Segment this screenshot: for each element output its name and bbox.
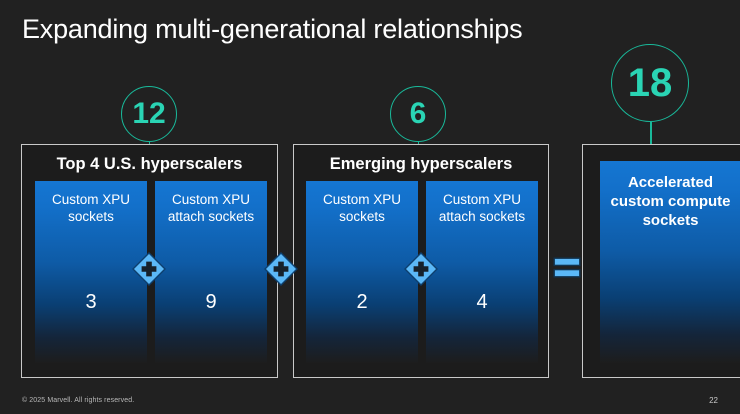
panel-top4-heading: Top 4 U.S. hyperscalers <box>22 155 277 174</box>
copyright-notice: © 2025 Marvell. All rights reserved. <box>22 397 134 404</box>
plus-icon <box>264 252 298 286</box>
bar-emerging-custom-xpu-attach-sockets: Custom XPU attach sockets 4 <box>426 181 538 363</box>
total-badge-top4-value: 12 <box>132 97 165 131</box>
bar-label: Custom XPU attach sockets <box>430 191 534 225</box>
total-badge-combined-value: 18 <box>628 61 673 106</box>
total-badge-top4: 12 <box>121 86 177 142</box>
bar-value: 9 <box>155 291 267 314</box>
bar-label: Accelerated custom compute sockets <box>606 173 735 230</box>
bar-value: 2 <box>306 291 418 314</box>
plus-icon <box>404 252 438 286</box>
page-title: Expanding multi-generational relationshi… <box>22 14 522 45</box>
bar-top4-custom-xpu-attach-sockets: Custom XPU attach sockets 9 <box>155 181 267 363</box>
total-badge-emerging: 6 <box>390 86 446 142</box>
total-badge-emerging-value: 6 <box>410 97 427 131</box>
slide-canvas: Expanding multi-generational relationshi… <box>0 0 740 414</box>
bar-top4-custom-xpu-sockets: Custom XPU sockets 3 <box>35 181 147 363</box>
equals-icon <box>553 256 581 280</box>
page-number: 22 <box>709 396 718 405</box>
bar-value: 3 <box>35 291 147 314</box>
bar-label: Custom XPU sockets <box>310 191 414 225</box>
bar-emerging-custom-xpu-sockets: Custom XPU sockets 2 <box>306 181 418 363</box>
total-badge-combined: 18 <box>611 44 689 122</box>
plus-icon <box>132 252 166 286</box>
bar-accelerated-custom-compute-sockets: Accelerated custom compute sockets <box>600 161 740 363</box>
panel-result: Accelerated custom compute sockets <box>582 144 740 378</box>
bar-label: Custom XPU attach sockets <box>159 191 263 225</box>
bar-label: Custom XPU sockets <box>39 191 143 225</box>
bar-value: 4 <box>426 291 538 314</box>
panel-emerging-heading: Emerging hyperscalers <box>294 155 548 174</box>
